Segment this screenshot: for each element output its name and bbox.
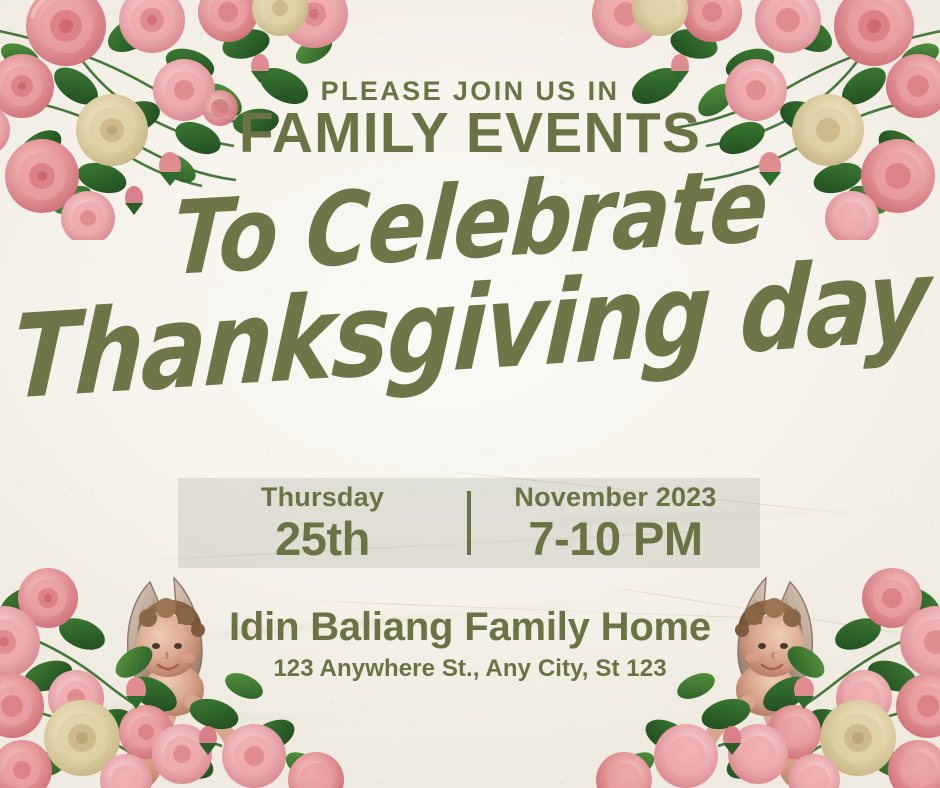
day-number: 25th [178, 515, 467, 562]
thanksgiving-invitation-poster: PLEASE JOIN US IN FAMILY EVENTS To Celeb… [0, 0, 940, 788]
time-range: 7-10 PM [471, 515, 760, 562]
venue-name: Idin Baliang Family Home [0, 607, 940, 647]
venue-address: 123 Anywhere St., Any City, St 123 [0, 657, 940, 681]
day-name: Thursday [178, 484, 467, 511]
event-type-title: FAMILY EVENTS [0, 105, 940, 162]
time-column: November 2023 7-10 PM [471, 484, 760, 562]
date-time-band: Thursday 25th November 2023 7-10 PM [178, 478, 760, 568]
script-headline: To Celebrate Thanksgiving day [0, 182, 940, 375]
date-column: Thursday 25th [178, 484, 467, 562]
month-year: November 2023 [471, 484, 760, 511]
